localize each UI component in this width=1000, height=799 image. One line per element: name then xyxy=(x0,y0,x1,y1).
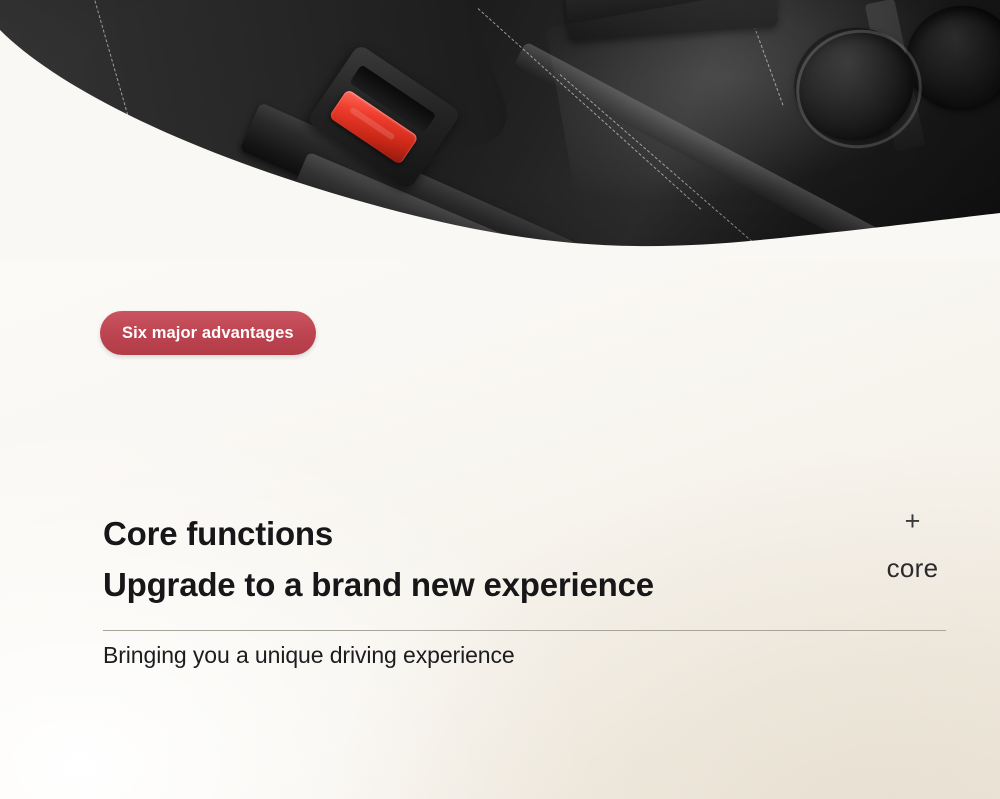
badge-label: Six major advantages xyxy=(122,324,294,343)
headline-block: Core functions Upgrade to a brand new ex… xyxy=(103,515,863,605)
car-interior-photo xyxy=(0,0,1000,260)
plus-icon: + xyxy=(855,508,970,535)
divider-rule xyxy=(103,630,946,631)
core-label: core xyxy=(855,555,970,581)
headline-line-2: Upgrade to a brand new experience xyxy=(103,566,863,604)
subtitle-text: Bringing you a unique driving experience xyxy=(103,642,515,669)
six-major-advantages-badge[interactable]: Six major advantages xyxy=(100,311,316,355)
headline-line-1: Core functions xyxy=(103,515,863,553)
core-mark: + core xyxy=(855,508,970,581)
promo-page: Six major advantages Core functions Upgr… xyxy=(0,0,1000,799)
hero-image xyxy=(0,0,1000,260)
